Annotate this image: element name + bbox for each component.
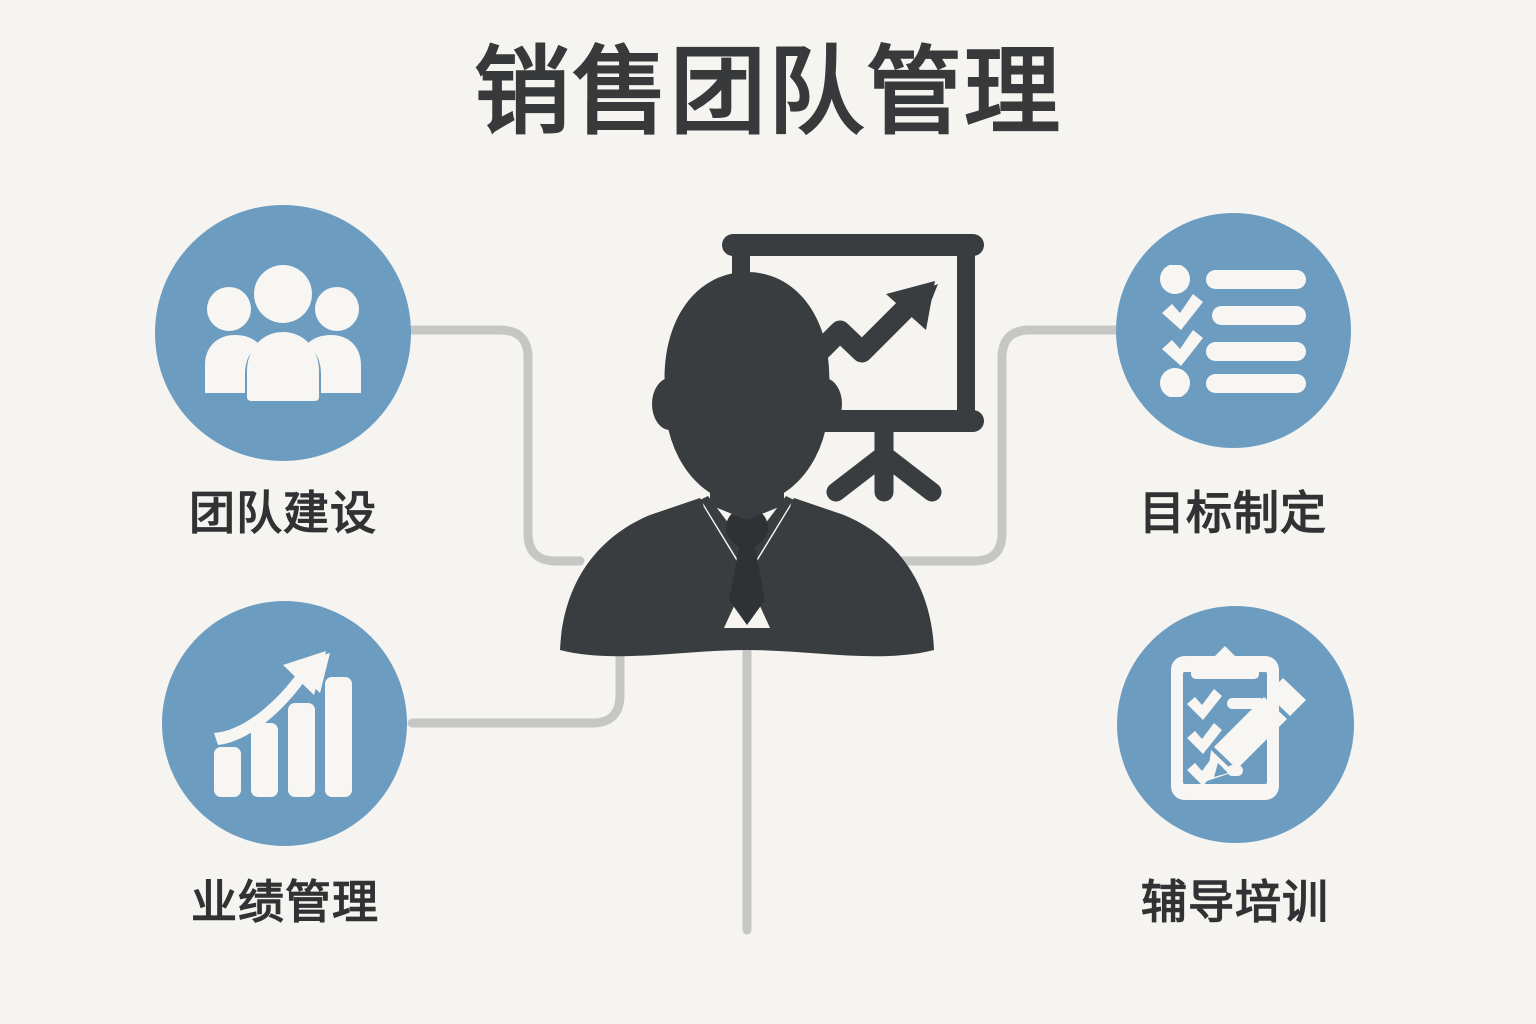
node-label-coaching-training: 辅导培训 bbox=[1055, 866, 1415, 932]
node-label-team-building: 团队建设 bbox=[103, 477, 463, 543]
people-group-icon bbox=[203, 261, 363, 401]
node-label-goal-setting: 目标制定 bbox=[1053, 477, 1413, 543]
node-circle-team-building[interactable] bbox=[155, 205, 411, 461]
clipboard-pencil-icon bbox=[1161, 646, 1311, 804]
checklist-icon bbox=[1160, 265, 1310, 397]
growth-bar-chart-icon bbox=[210, 651, 360, 797]
page-title: 销售团队管理 bbox=[0, 38, 1536, 148]
infographic-canvas: 销售团队管理 团队建设 业绩管理 bbox=[0, 0, 1536, 1024]
node-label-performance-management: 业绩管理 bbox=[105, 866, 465, 932]
connector-performance-management bbox=[412, 648, 620, 723]
node-circle-performance-management[interactable] bbox=[162, 601, 407, 846]
node-circle-goal-setting[interactable] bbox=[1116, 213, 1351, 448]
node-circle-coaching-training[interactable] bbox=[1117, 606, 1354, 843]
